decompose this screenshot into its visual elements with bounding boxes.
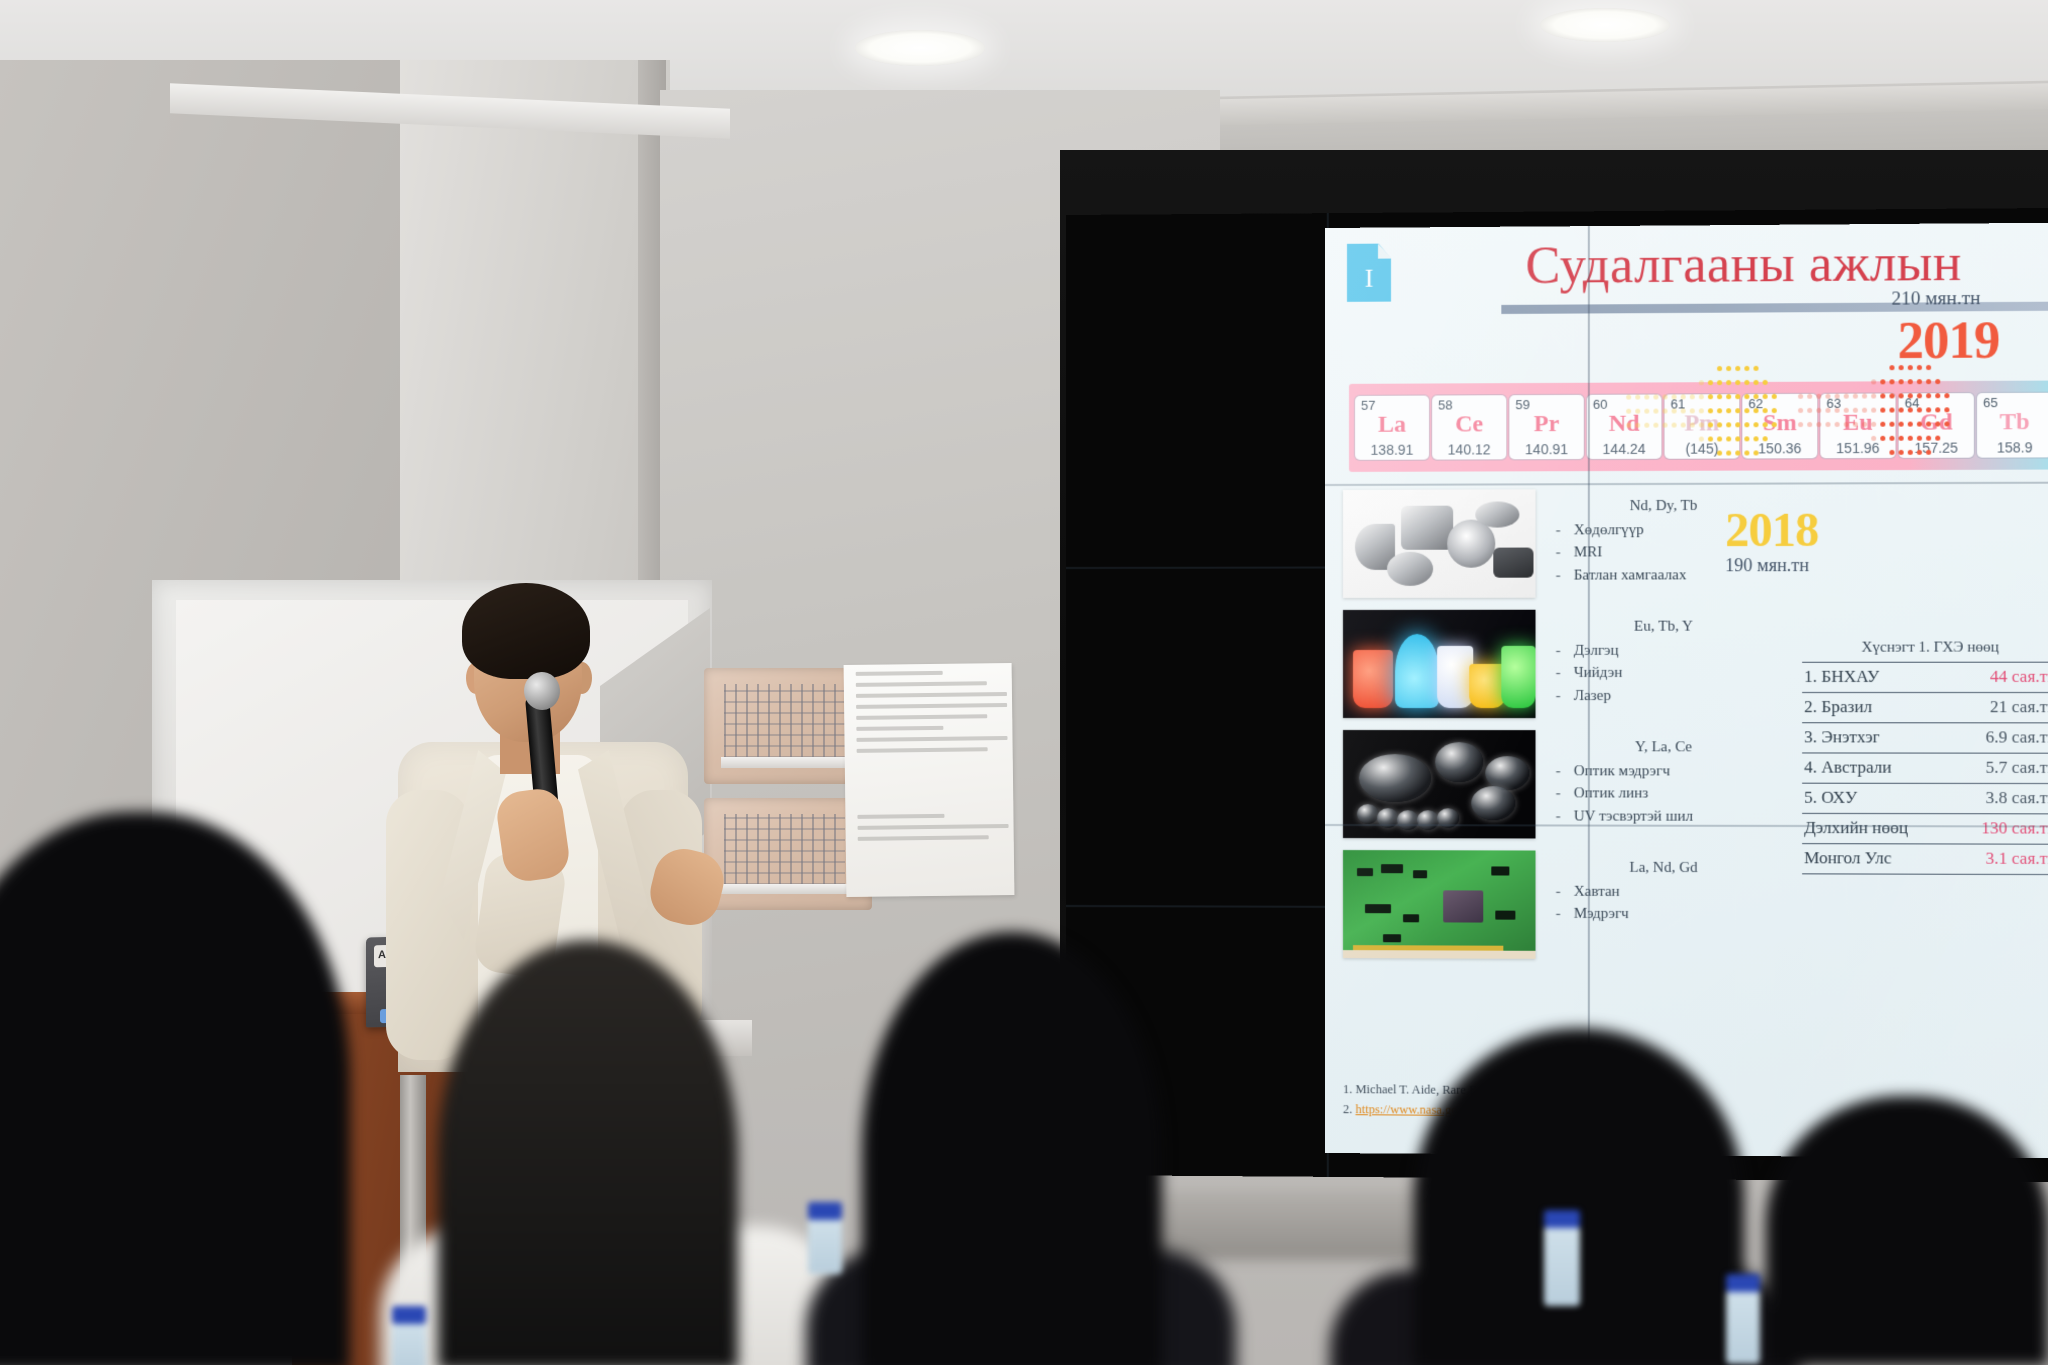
element-cell-pr: 59Pr140.91 xyxy=(1509,395,1583,460)
application-group-3: La, Nd, GdХавтанМэдрэгч xyxy=(1548,857,1780,927)
arrow-dot xyxy=(1744,436,1749,441)
arrow-dot xyxy=(1699,437,1704,442)
arrow-dot xyxy=(1899,436,1904,441)
arrow-dot xyxy=(1717,394,1722,399)
element-symbol: Pr xyxy=(1509,411,1583,438)
speaker-hair xyxy=(462,583,590,679)
arrow-dot xyxy=(1825,394,1830,399)
arrow-dot xyxy=(1944,421,1949,426)
arrow-dot xyxy=(1681,423,1686,428)
arrow-dot xyxy=(1853,422,1858,427)
list-item: Хавтан xyxy=(1548,881,1780,904)
arrow-dot xyxy=(1926,422,1931,427)
arrow-dot xyxy=(1889,422,1894,427)
element-cell-tb: 65Tb158.9 xyxy=(1977,393,2048,458)
arrow-dot xyxy=(1871,379,1876,384)
arrow-dot xyxy=(1708,436,1713,441)
arrow-dot xyxy=(1835,422,1840,427)
group-elements: Y, La, Ce xyxy=(1548,736,1780,759)
arrow-dot xyxy=(1871,422,1876,427)
slide-seam-v xyxy=(1588,226,1590,1155)
audience-head-5 xyxy=(1766,1096,2048,1365)
arrow-dot xyxy=(1763,422,1768,427)
arrow-dot xyxy=(1926,407,1931,412)
element-mass: 158.9 xyxy=(1977,439,2048,455)
arrow-dot xyxy=(1798,394,1803,399)
arrow-dot xyxy=(1753,366,1758,371)
thumbnail-magnets xyxy=(1343,489,1536,598)
arrow-dot xyxy=(1862,394,1867,399)
arrow-dot xyxy=(1917,365,1922,370)
table-row: Монгол Улс3.1 сая.тн xyxy=(1802,844,2048,875)
arrow-dot xyxy=(1744,408,1749,413)
arrow-dot xyxy=(1699,422,1704,427)
arrow-dot xyxy=(1917,393,1922,398)
arrow-dot xyxy=(1626,423,1631,428)
arrow-dot xyxy=(1635,423,1640,428)
arrow-dot xyxy=(1899,450,1904,455)
arrow-dot xyxy=(1708,394,1713,399)
arrow-dot xyxy=(1944,393,1949,398)
arrow-dot xyxy=(1880,436,1885,441)
group-list: Оптик мэдрэгчОптик линзUV тэсвэртэй шил xyxy=(1548,760,1780,827)
arrow-dot xyxy=(1717,380,1722,385)
panel-grid-lower xyxy=(724,814,845,886)
arrow-dot xyxy=(1726,436,1731,441)
arrow-dot xyxy=(1626,395,1631,400)
arrow-dot xyxy=(1944,407,1949,412)
arrow-dot xyxy=(1816,408,1821,413)
arrow-dot xyxy=(1917,436,1922,441)
row-label: Дэлхийн нөөц xyxy=(1804,818,1908,838)
audience-head-4 xyxy=(1414,1028,1744,1365)
arrow-dot xyxy=(1772,422,1777,427)
arrow-dot xyxy=(1726,422,1731,427)
arrow-dot xyxy=(1889,379,1894,384)
table-row: 1. БНХАУ44 сая.тн xyxy=(1802,662,2048,693)
row-value: 5.7 сая.тн xyxy=(1986,758,2048,778)
arrow-dot xyxy=(1917,422,1922,427)
arrow-dot xyxy=(1626,409,1631,414)
arrow-dot xyxy=(1862,422,1867,427)
arrow-dot xyxy=(1772,394,1777,399)
presentation-photo: AMIT science I Судалгааны ажлын 57La138.… xyxy=(0,0,2048,1365)
reserves-table-caption: Хүснэгт 1. ГХЭ нөөц xyxy=(1802,639,2048,656)
water-bottle-2 xyxy=(808,1218,842,1274)
arrow-dot xyxy=(1899,407,1904,412)
arrow-dot xyxy=(1899,365,1904,370)
arrow-dot xyxy=(1699,408,1704,413)
arrow-dot xyxy=(1753,422,1758,427)
arrow-dot xyxy=(1816,422,1821,427)
arrow-dot xyxy=(1735,394,1740,399)
arrow-dot xyxy=(1726,451,1731,456)
water-bottle-4 xyxy=(1726,1290,1760,1364)
arrow-dot xyxy=(1690,422,1695,427)
arrow-dot xyxy=(1853,408,1858,413)
production-2018-value: 190 мян.тн xyxy=(1725,555,1809,576)
arrow-dot xyxy=(1644,409,1649,414)
row-label: 2. Бразил xyxy=(1804,697,1872,717)
arrow-dot xyxy=(1889,450,1894,455)
arrow-dot xyxy=(1653,394,1658,399)
arrow-dot xyxy=(1935,421,1940,426)
arrow-dot xyxy=(1744,394,1749,399)
arrow-dot xyxy=(1889,365,1894,370)
dotted-arrow-2018-icon xyxy=(1626,366,1788,487)
arrow-dot xyxy=(1763,436,1768,441)
arrow-dot xyxy=(1717,366,1722,371)
arrow-dot xyxy=(1926,393,1931,398)
arrow-dot xyxy=(1935,407,1940,412)
arrow-dot xyxy=(1807,408,1812,413)
arrow-dot xyxy=(1753,380,1758,385)
arrow-dot xyxy=(1798,422,1803,427)
arrow-dot xyxy=(1672,408,1677,413)
arrow-dot xyxy=(1807,422,1812,427)
arrow-dot xyxy=(1763,408,1768,413)
arrow-dot xyxy=(1899,379,1904,384)
arrow-dot xyxy=(1662,423,1667,428)
arrow-dot xyxy=(1735,450,1740,455)
ceiling-downlight-right xyxy=(1540,8,1670,42)
row-value: 44 сая.тн xyxy=(1990,667,2048,687)
group-list: ДэлгэцЧийдэнЛазер xyxy=(1548,640,1780,707)
arrow-dot xyxy=(1708,408,1713,413)
arrow-dot xyxy=(1926,450,1931,455)
arrow-dot xyxy=(1844,422,1849,427)
arrow-dot xyxy=(1672,394,1677,399)
element-symbol: Ce xyxy=(1432,411,1506,438)
table-row: 3. Энэтхэг6.9 сая.тн xyxy=(1802,723,2048,753)
arrow-dot xyxy=(1708,422,1713,427)
arrow-dot xyxy=(1763,394,1768,399)
element-number: 60 xyxy=(1593,397,1608,412)
list-item: Оптик линз xyxy=(1548,783,1780,806)
thumbnail-optical-lenses xyxy=(1343,730,1536,838)
arrow-dot xyxy=(1844,408,1849,413)
thumbnail-circuit-board xyxy=(1343,850,1536,959)
arrow-dot xyxy=(1753,408,1758,413)
element-cell-la: 57La138.91 xyxy=(1355,396,1429,460)
arrow-dot xyxy=(1807,394,1812,399)
arrow-dot xyxy=(1926,436,1931,441)
table-row: 4. Австрали5.7 сая.тн xyxy=(1802,753,2048,784)
arrow-dot xyxy=(1708,380,1713,385)
arrow-dot xyxy=(1744,366,1749,371)
row-label: Монгол Улс xyxy=(1804,848,1891,868)
arrow-dot xyxy=(1744,380,1749,385)
panel-bar-upper xyxy=(721,757,855,767)
arrow-dot xyxy=(1735,408,1740,413)
projected-slide: I Судалгааны ажлын 57La138.9158Ce140.125… xyxy=(1325,223,2048,1158)
slide-title: Судалгааны ажлын xyxy=(1525,234,1961,296)
arrow-dot xyxy=(1744,422,1749,427)
list-item: Лазер xyxy=(1548,685,1780,707)
arrow-dot xyxy=(1889,393,1894,398)
arrow-dot xyxy=(1880,393,1885,398)
arrow-dot xyxy=(1735,380,1740,385)
group-elements: Eu, Tb, Y xyxy=(1548,615,1780,638)
panel-bar-lower xyxy=(721,884,855,894)
footnote-2-prefix: 2. xyxy=(1343,1102,1355,1116)
arrow-dot xyxy=(1690,408,1695,413)
arrow-dot xyxy=(1735,436,1740,441)
arrow-dot xyxy=(1653,409,1658,414)
arrow-dot xyxy=(1917,379,1922,384)
arrow-dot xyxy=(1681,408,1686,413)
arrow-dot xyxy=(1672,423,1677,428)
table-row: 5. ОХУ3.8 сая.тн xyxy=(1802,784,2048,815)
row-label: 5. ОХУ xyxy=(1804,788,1857,808)
arrow-dot xyxy=(1726,380,1731,385)
row-value: 21 сая.тн xyxy=(1990,697,2048,717)
element-number: 57 xyxy=(1361,398,1375,413)
arrow-dot xyxy=(1735,366,1740,371)
arrow-dot xyxy=(1926,365,1931,370)
arrow-dot xyxy=(1862,408,1867,413)
arrow-dot xyxy=(1871,393,1876,398)
element-mass: 140.91 xyxy=(1509,441,1583,457)
arrow-dot xyxy=(1880,422,1885,427)
arrow-dot xyxy=(1825,408,1830,413)
arrow-dot xyxy=(1908,450,1913,455)
arrow-dot xyxy=(1908,422,1913,427)
arrow-dot xyxy=(1699,380,1704,385)
row-label: 1. БНХАУ xyxy=(1804,667,1879,687)
arrow-dot xyxy=(1871,408,1876,413)
application-group-1: Eu, Tb, YДэлгэцЧийдэнЛазер xyxy=(1548,615,1780,706)
element-cell-ce: 58Ce140.12 xyxy=(1432,395,1506,459)
arrow-dot xyxy=(1644,395,1649,400)
arrow-dot xyxy=(1690,394,1695,399)
arrow-dot xyxy=(1753,450,1758,455)
arrow-dot xyxy=(1726,394,1731,399)
arrow-dot xyxy=(1662,409,1667,414)
arrow-dot xyxy=(1753,436,1758,441)
row-label: 4. Австрали xyxy=(1804,757,1891,777)
arrow-dot xyxy=(1662,394,1667,399)
table-row: 2. Бразил21 сая.тн xyxy=(1802,693,2048,723)
arrow-dot xyxy=(1835,394,1840,399)
arrow-dot xyxy=(1717,408,1722,413)
arrow-dot xyxy=(1644,423,1649,428)
arrow-dot xyxy=(1744,450,1749,455)
arrow-dot xyxy=(1908,436,1913,441)
arrow-dot xyxy=(1726,408,1731,413)
arrow-dot xyxy=(1726,366,1731,371)
arrow-dot xyxy=(1753,394,1758,399)
water-bottle-3 xyxy=(1544,1226,1580,1306)
group-list: ХавтанМэдрэгч xyxy=(1548,881,1780,926)
arrow-dot xyxy=(1853,394,1858,399)
arrow-dot xyxy=(1835,408,1840,413)
arrow-dot xyxy=(1935,379,1940,384)
arrow-dot xyxy=(1926,379,1931,384)
element-number: 59 xyxy=(1515,397,1530,412)
list-item: Мэдрэгч xyxy=(1548,903,1780,926)
arrow-dot xyxy=(1717,422,1722,427)
arrow-dot xyxy=(1681,394,1686,399)
list-item: Оптик мэдрэгч xyxy=(1548,760,1780,783)
arrow-dot xyxy=(1871,436,1876,441)
arrow-dot xyxy=(1635,395,1640,400)
arrow-dot xyxy=(1908,379,1913,384)
thumbnail-fluorescent-beakers xyxy=(1343,610,1536,718)
row-value: 3.8 сая.тн xyxy=(1986,788,2048,808)
row-value: 3.1 сая.тн xyxy=(1986,849,2048,869)
arrow-dot xyxy=(1880,379,1885,384)
dotted-arrow-2019-icon xyxy=(1798,365,1971,487)
list-item: Чийдэн xyxy=(1548,662,1780,684)
arrow-dot xyxy=(1798,408,1803,413)
arrow-dot xyxy=(1717,436,1722,441)
row-value: 6.9 сая.тн xyxy=(1986,727,2048,747)
arrow-dot xyxy=(1935,393,1940,398)
arrow-dot xyxy=(1880,408,1885,413)
element-number: 65 xyxy=(1983,395,1998,410)
arrow-dot xyxy=(1899,393,1904,398)
arrow-dot xyxy=(1816,394,1821,399)
arrow-dot xyxy=(1917,450,1922,455)
arrow-dot xyxy=(1908,365,1913,370)
arrow-dot xyxy=(1825,422,1830,427)
arrow-dot xyxy=(1889,408,1894,413)
production-2018-year: 2018 xyxy=(1725,503,1818,559)
arrow-dot xyxy=(1844,394,1849,399)
row-value: 130 сая.тн xyxy=(1981,818,2048,838)
wall-notice-paper xyxy=(844,663,1015,897)
reserves-table: Хүснэгт 1. ГХЭ нөөц 1. БНХАУ44 сая.тн2. … xyxy=(1802,639,2048,875)
element-mass: 140.12 xyxy=(1432,441,1506,457)
arrow-dot xyxy=(1917,407,1922,412)
group-elements: La, Nd, Gd xyxy=(1548,857,1780,880)
arrow-dot xyxy=(1635,409,1640,414)
element-number: 58 xyxy=(1438,397,1453,412)
arrow-dot xyxy=(1717,451,1722,456)
audience-head-3 xyxy=(862,932,1162,1365)
audience-head-2 xyxy=(438,940,738,1365)
water-bottle-1 xyxy=(392,1322,426,1365)
element-mass: 138.91 xyxy=(1355,442,1429,458)
arrow-dot xyxy=(1772,408,1777,413)
arrow-dot xyxy=(1763,380,1768,385)
application-group-2: Y, La, CeОптик мэдрэгчОптик линзUV тэсвэ… xyxy=(1548,736,1780,828)
production-2019-value: 210 мян.тн xyxy=(1891,288,1980,311)
element-symbol: La xyxy=(1355,412,1429,439)
arrow-dot xyxy=(1908,407,1913,412)
panel-grid-upper xyxy=(724,684,845,758)
document-icon-letter: I xyxy=(1347,264,1391,294)
element-symbol: Tb xyxy=(1977,409,2048,437)
ceiling-downlight-left xyxy=(855,30,985,66)
list-item: Дэлгэц xyxy=(1548,640,1780,662)
arrow-dot xyxy=(1935,436,1940,441)
production-2019-year: 2019 xyxy=(1898,311,2000,371)
arrow-dot xyxy=(1699,394,1704,399)
row-label: 3. Энэтхэг xyxy=(1804,727,1880,747)
arrow-dot xyxy=(1889,436,1894,441)
arrow-dot xyxy=(1908,393,1913,398)
arrow-dot xyxy=(1735,422,1740,427)
arrow-dot xyxy=(1899,422,1904,427)
table-row: Дэлхийн нөөц130 сая.тн xyxy=(1802,814,2048,845)
arrow-dot xyxy=(1653,423,1658,428)
